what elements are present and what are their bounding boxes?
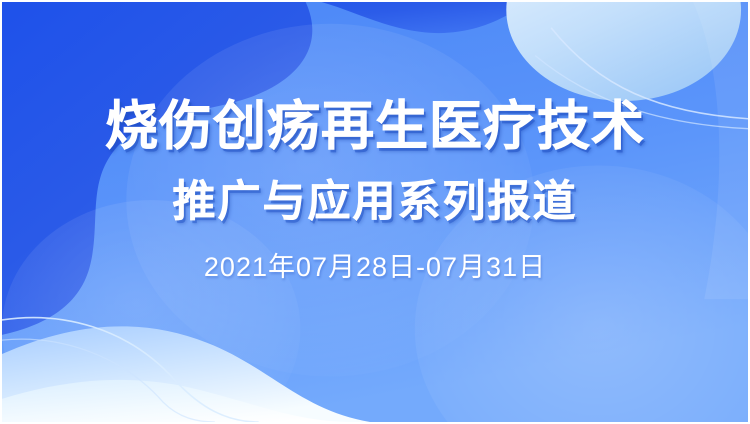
background-artwork (2, 2, 748, 422)
promo-poster: 烧伤创疡再生医疗技术 推广与应用系列报道 2021年07月28日-07月31日 (0, 0, 750, 424)
